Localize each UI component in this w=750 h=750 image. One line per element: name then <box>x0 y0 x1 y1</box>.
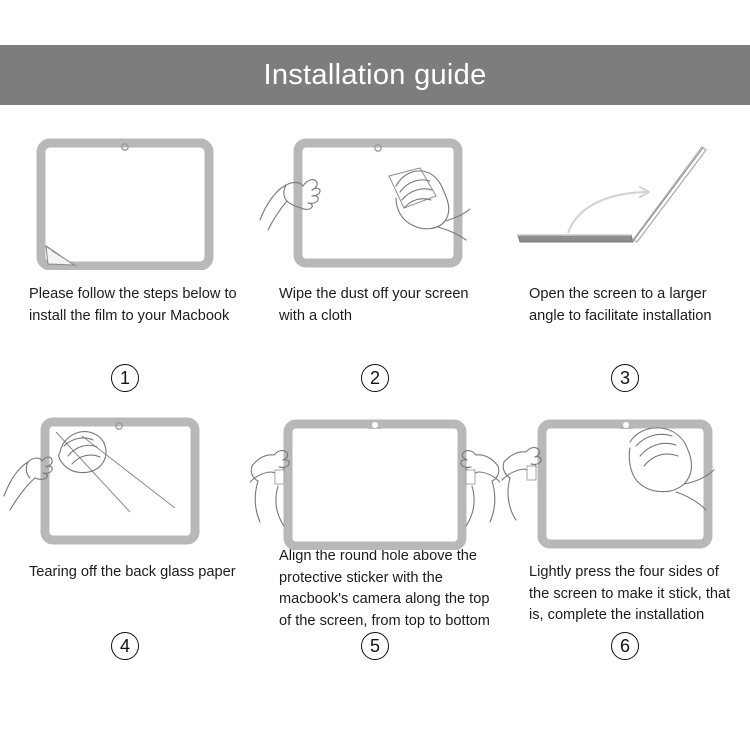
illustration-tearing-backing-paper <box>0 410 250 550</box>
step-caption-4: Tearing off the back glass paper <box>0 562 250 584</box>
step-cell-6: Lightly press the four sides of the scre… <box>500 410 750 710</box>
step-cell-2: Wipe the dust off your screen with a clo… <box>250 130 500 410</box>
step-number-wrap-6: 6 <box>500 632 750 710</box>
step-number-3: 3 <box>611 364 639 392</box>
header-bar: Installation guide <box>0 45 750 105</box>
step-number-4: 4 <box>111 632 139 660</box>
step-cell-5: Align the round hole above the protectiv… <box>250 410 500 710</box>
steps-row-top: Please follow the steps below to install… <box>0 130 750 410</box>
step-cell-4: Tearing off the back glass paper 4 <box>0 410 250 710</box>
steps-grid: Please follow the steps below to install… <box>0 130 750 710</box>
step-number-5: 5 <box>361 632 389 660</box>
step-number-6: 6 <box>611 632 639 660</box>
step-caption-5: Align the round hole above the protectiv… <box>250 546 500 632</box>
step-cell-3: Open the screen to a larger angle to fac… <box>500 130 750 410</box>
illustration-aligning-film-corners <box>250 410 500 534</box>
step-caption-6: Lightly press the four sides of the scre… <box>500 562 750 627</box>
illustration-pressing-film-edges <box>500 410 750 550</box>
page-title: Installation guide <box>263 61 486 90</box>
step-number-wrap-2: 2 <box>250 364 500 410</box>
step-caption-3: Open the screen to a larger angle to fac… <box>500 284 750 327</box>
steps-row-bottom: Tearing off the back glass paper 4 <box>0 410 750 710</box>
step-number-wrap-1: 1 <box>0 364 250 410</box>
step-number-wrap-4: 4 <box>0 632 250 710</box>
step-number-wrap-3: 3 <box>500 364 750 410</box>
step-caption-2: Wipe the dust off your screen with a clo… <box>250 284 500 327</box>
illustration-screen-with-peeling-film <box>0 130 250 270</box>
step-caption-1: Please follow the steps below to install… <box>0 284 250 327</box>
step-cell-1: Please follow the steps below to install… <box>0 130 250 410</box>
illustration-hand-wiping-screen <box>250 130 500 270</box>
illustration-laptop-open-angle <box>500 130 750 270</box>
step-number-1: 1 <box>111 364 139 392</box>
step-number-2: 2 <box>361 364 389 392</box>
step-number-wrap-5: 5 <box>250 632 500 710</box>
